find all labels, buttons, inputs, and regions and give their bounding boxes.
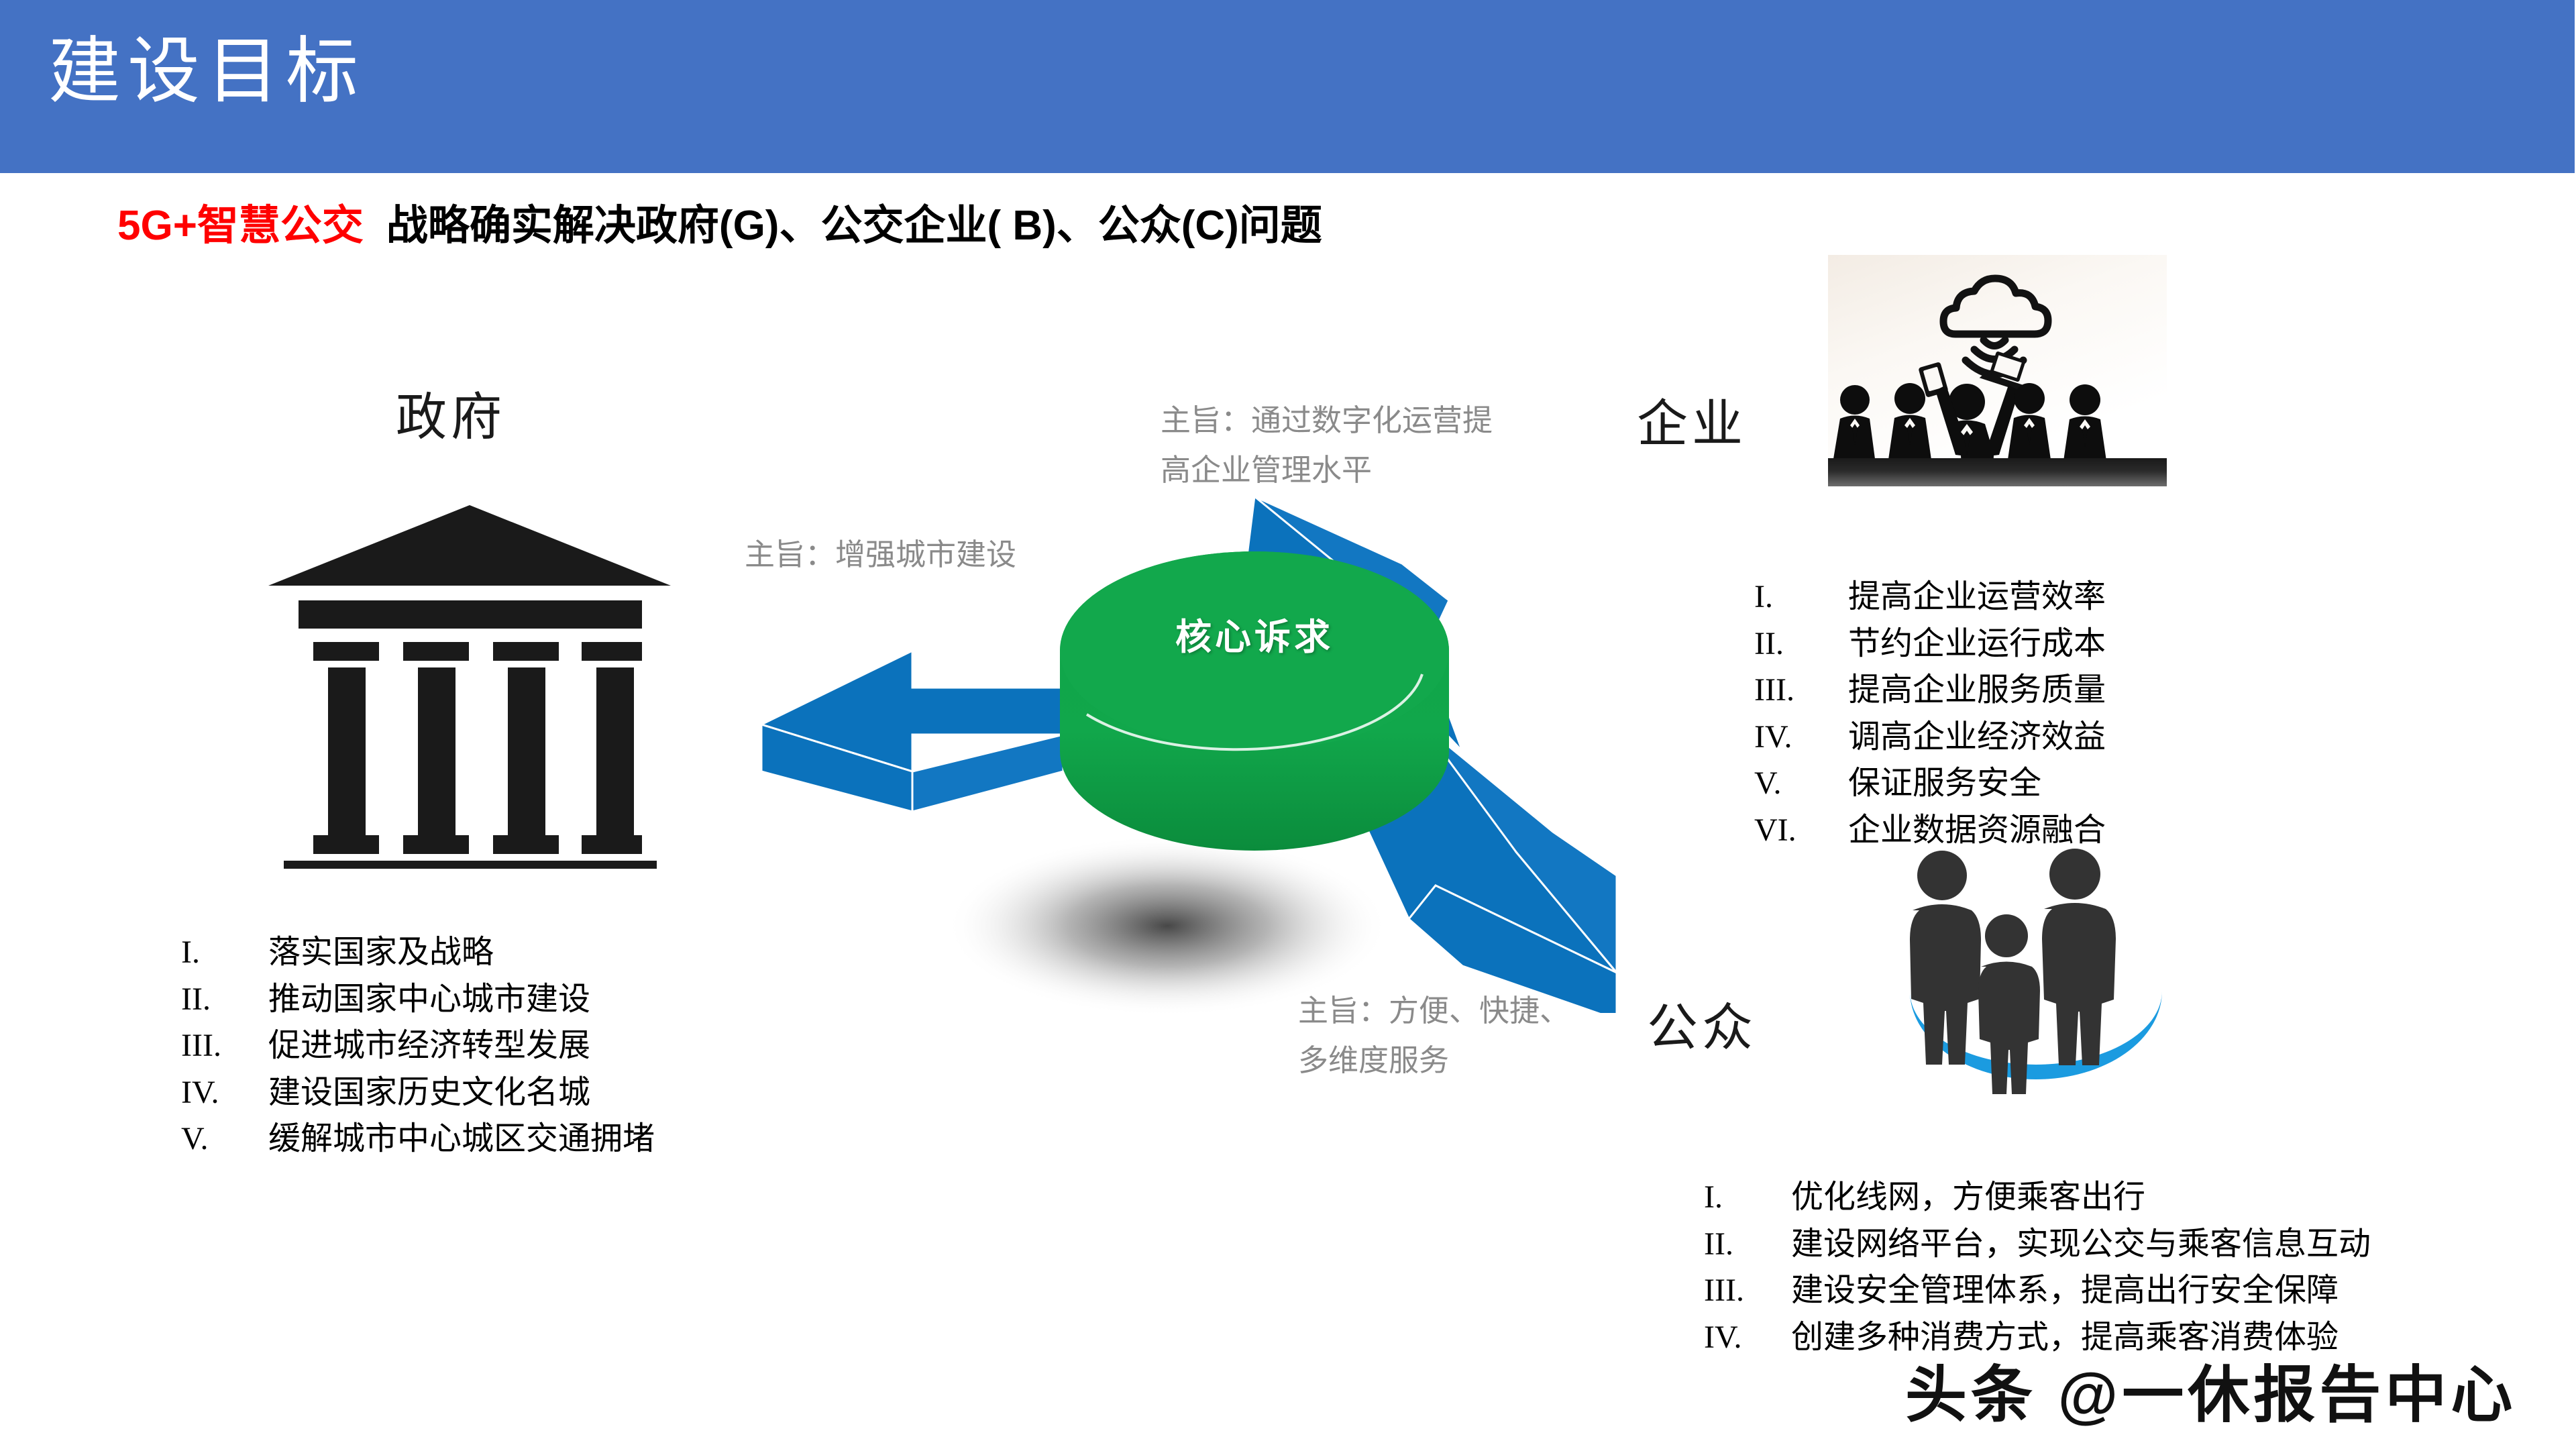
list-item-text: 企业数据资源融合 xyxy=(1848,807,2106,854)
annotation-enterprise-line2: 高企业管理水平 xyxy=(1161,445,1493,495)
list-item-number: V. xyxy=(1754,760,1848,807)
arrow-left xyxy=(761,651,1063,812)
list-item-number: V. xyxy=(181,1116,268,1163)
list-item-number: II. xyxy=(181,976,268,1023)
list-item-number: I. xyxy=(1754,574,1848,621)
list-item: IV.建设国家历史文化名城 xyxy=(181,1069,655,1116)
list-item-number: I. xyxy=(181,929,268,976)
watermark: 头条 @一休报告中心 xyxy=(1905,1345,2516,1434)
list-item-text: 节约企业运行成本 xyxy=(1848,621,2106,667)
photo-floor-reflection xyxy=(1828,458,2167,486)
list-item-text: 优化线网，方便乘客出行 xyxy=(1791,1174,2145,1221)
annotation-public-line2: 多维度服务 xyxy=(1298,1036,1570,1085)
list-item: V.保证服务安全 xyxy=(1754,760,2106,807)
list-item-text: 保证服务安全 xyxy=(1848,760,2041,807)
list-item-number: III. xyxy=(181,1022,268,1069)
list-item-text: 缓解城市中心城区交通拥堵 xyxy=(268,1116,655,1163)
list-item-number: II. xyxy=(1754,621,1848,667)
subtitle-accent: 5G+智慧公交 xyxy=(117,203,364,249)
list-item-number: III. xyxy=(1704,1267,1791,1314)
list-item: IV.调高企业经济效益 xyxy=(1754,714,2106,761)
list-item: II.推动国家中心城市建设 xyxy=(181,976,655,1023)
list-item-number: IV. xyxy=(1754,714,1848,761)
public-goal-list: I.优化线网，方便乘客出行 II.建设网络平台，实现公交与乘客信息互动 III.… xyxy=(1704,1174,2371,1360)
list-item: I.优化线网，方便乘客出行 xyxy=(1704,1174,2371,1221)
business-team-cloud-icon xyxy=(1828,255,2167,486)
list-item-number: III. xyxy=(1754,667,1848,714)
list-item: I.提高企业运营效率 xyxy=(1754,574,2106,621)
list-item-text: 落实国家及战略 xyxy=(268,929,494,976)
annotation-government: 主旨：增强城市建设 xyxy=(745,530,1016,580)
list-item-text: 建设国家历史文化名城 xyxy=(268,1069,590,1116)
people-group-icon xyxy=(1875,842,2197,1130)
list-item: VI.企业数据资源融合 xyxy=(1754,807,2106,854)
list-item-text: 提高企业服务质量 xyxy=(1848,667,2106,714)
section-heading-government: 政府 xyxy=(396,376,506,449)
list-item-text: 提高企业运营效率 xyxy=(1848,574,2106,621)
list-item: III.提高企业服务质量 xyxy=(1754,667,2106,714)
list-item: I.落实国家及战略 xyxy=(181,929,655,976)
slide-header-bar xyxy=(0,0,2575,173)
list-item: V.缓解城市中心城区交通拥堵 xyxy=(181,1116,655,1163)
list-item: III.促进城市经济转型发展 xyxy=(181,1022,655,1069)
slide-canvas: 建设目标 5G+智慧公交战略确实解决政府(G)、公交企业( B)、公众(C)问题… xyxy=(0,0,2576,1449)
list-item-number: IV. xyxy=(1704,1314,1791,1361)
list-item: II.节约企业运行成本 xyxy=(1754,621,2106,667)
core-cylinder xyxy=(1060,551,1449,851)
list-item-number: IV. xyxy=(181,1069,268,1116)
list-item-text: 建设安全管理体系，提高出行安全保障 xyxy=(1791,1267,2339,1314)
government-goal-list: I.落实国家及战略 II.推动国家中心城市建设 III.促进城市经济转型发展 I… xyxy=(181,929,655,1163)
list-item-number: VI. xyxy=(1754,807,1848,854)
list-item-text: 建设网络平台，实现公交与乘客信息互动 xyxy=(1791,1221,2371,1268)
annotation-government-line1: 主旨：增强城市建设 xyxy=(745,530,1016,580)
list-item-text: 推动国家中心城市建设 xyxy=(268,976,590,1023)
list-item-number: I. xyxy=(1704,1174,1791,1221)
list-item: II.建设网络平台，实现公交与乘客信息互动 xyxy=(1704,1221,2371,1268)
subtitle-rest: 战略确实解决政府(G)、公交企业( B)、公众(C)问题 xyxy=(386,203,1322,249)
annotation-public-line1: 主旨：方便、快捷、 xyxy=(1298,986,1570,1036)
bank-building-icon xyxy=(265,500,674,869)
page-title: 建设目标 xyxy=(48,25,365,116)
list-item-text: 调高企业经济效益 xyxy=(1848,714,2106,761)
annotation-public: 主旨：方便、快捷、 多维度服务 xyxy=(1298,986,1570,1086)
list-item-text: 促进城市经济转型发展 xyxy=(268,1022,590,1069)
section-heading-enterprise: 企业 xyxy=(1637,382,1747,456)
list-item-number: II. xyxy=(1704,1221,1791,1268)
core-demand-label: 核心诉求 xyxy=(1109,607,1400,660)
annotation-enterprise-line1: 主旨：通过数字化运营提 xyxy=(1161,396,1493,445)
enterprise-goal-list: I.提高企业运营效率 II.节约企业运行成本 III.提高企业服务质量 IV.调… xyxy=(1754,574,2106,854)
annotation-enterprise: 主旨：通过数字化运营提 高企业管理水平 xyxy=(1161,396,1493,496)
subtitle: 5G+智慧公交战略确实解决政府(G)、公交企业( B)、公众(C)问题 xyxy=(117,201,1322,251)
list-item: III.建设安全管理体系，提高出行安全保障 xyxy=(1704,1267,2371,1314)
